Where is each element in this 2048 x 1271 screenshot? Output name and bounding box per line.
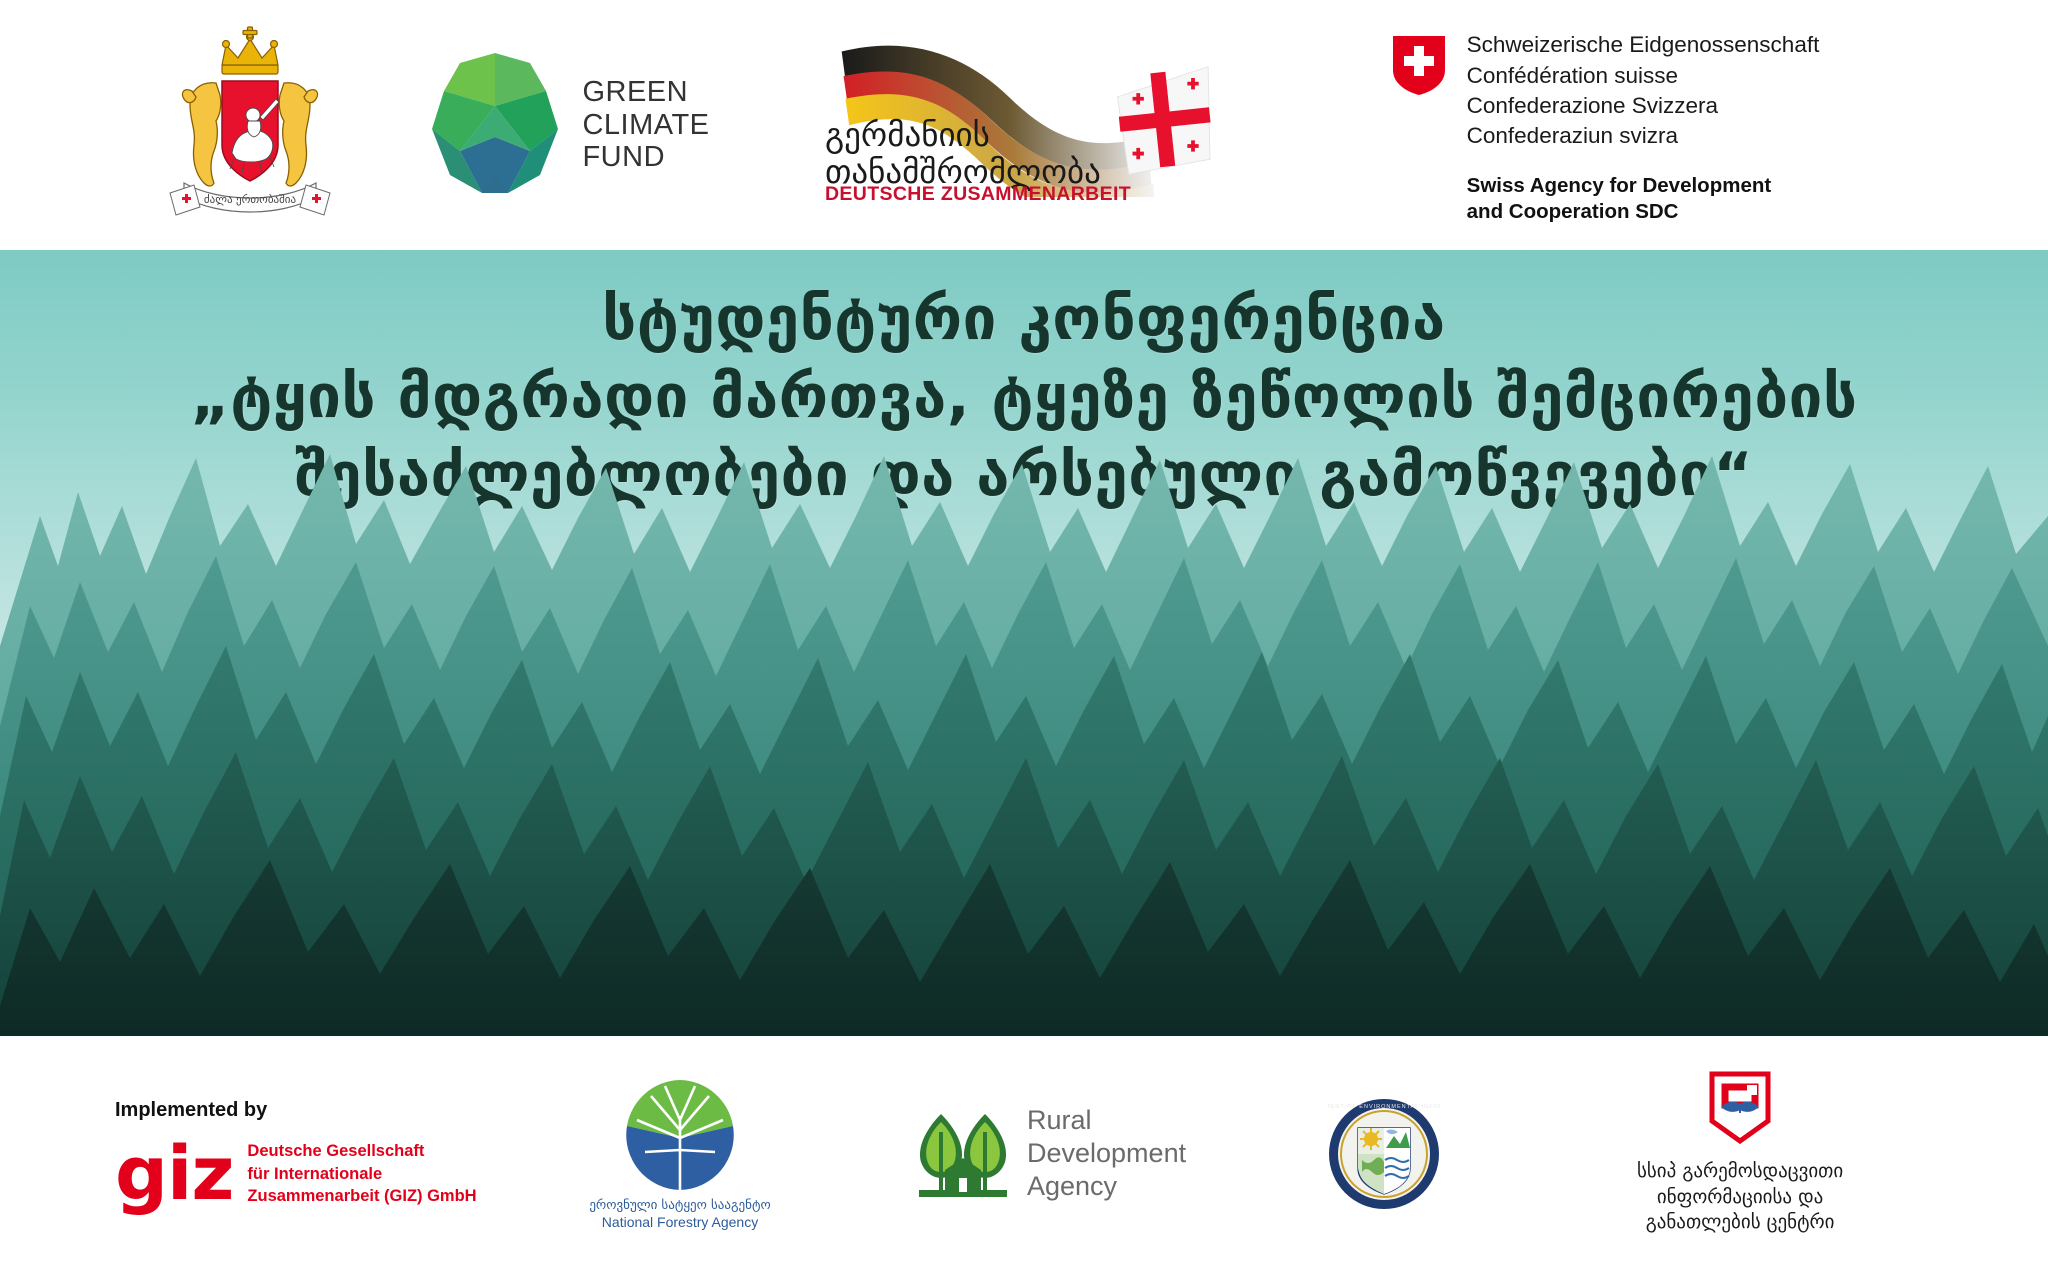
- rda-trees-house-icon: [915, 1108, 1011, 1200]
- logo-georgia-coat-of-arms: ძალა ერთობაშია: [95, 0, 405, 250]
- logo-german-cooperation: გერმანიის თანამშრომლობა DEUTSCHE ZUSAMME…: [795, 0, 1255, 250]
- swiss-cross-shield-icon: [1391, 34, 1447, 96]
- sdc-agency-name: Swiss Agency for Development and Coopera…: [1467, 173, 1820, 225]
- environmental-department-seal-icon: DEPARTMENT OF ENVIRONMENTAL INFORMATION: [1328, 1098, 1440, 1210]
- eiec-name: სსიპ გარემოსდაცვითი ინფორმაციისა და განა…: [1570, 1159, 1910, 1235]
- rda-line-2: Development: [1027, 1137, 1186, 1170]
- gcf-line-3: FUND: [582, 141, 709, 173]
- forestry-tree-circle-icon: [621, 1076, 739, 1194]
- logo-national-forestry-agency: ეროვნული სატყეო სააგენტო National Forest…: [565, 1076, 795, 1232]
- logo-department-environmental-information: DEPARTMENT OF ENVIRONMENTAL INFORMATION: [1304, 1098, 1464, 1210]
- sdc-line-it: Confederazione Svizzera: [1467, 91, 1820, 121]
- logo-environmental-info-education-centre: სსიპ გარემოსდაცვითი ინფორმაციისა და განა…: [1570, 1071, 1910, 1235]
- rda-line-1: Rural: [1027, 1104, 1186, 1137]
- emblem-motto: ძალა ერთობაშია: [204, 193, 297, 206]
- hero-section: სტუდენტური კონფერენცია „ტყის მდგრადი მარ…: [0, 250, 2048, 1036]
- giz-full-name: Deutsche Gesellschaft für Internationale…: [247, 1140, 476, 1207]
- eiec-line-3: განათლების ცენტრი: [1570, 1210, 1910, 1235]
- partner-logo-bar-bottom: Implemented by giz Deutsche Gesellschaft…: [0, 1036, 2048, 1271]
- logo-swiss-sdc: Schweizerische Eidgenossenschaft Confédé…: [1255, 0, 1955, 250]
- donor-logo-bar-top: ძალა ერთობაშია: [0, 0, 2048, 250]
- logo-rural-development-agency: Rural Development Agency: [915, 1104, 1186, 1203]
- nfa-name-ka: ეროვნული სატყეო სააგენტო: [565, 1198, 795, 1214]
- implemented-by-label: Implemented by: [115, 1099, 535, 1122]
- eiec-line-2: ინფორმაციისა და: [1570, 1185, 1910, 1210]
- sdc-agency-line-2: and Cooperation SDC: [1467, 199, 1820, 225]
- sdc-line-rm: Confederaziun svizra: [1467, 121, 1820, 151]
- german-cooperation-ka-line-1: გერმანიის: [825, 117, 1135, 154]
- gcf-wordmark: GREEN CLIMATE FUND: [582, 76, 709, 173]
- forest-silhouette-illustration: [0, 396, 2048, 1036]
- giz-name-line-3: Zusammenarbeit (GIZ) GmbH: [247, 1185, 476, 1207]
- title-line-1: სტუდენტური კონფერენცია: [0, 280, 2048, 358]
- eiec-line-1: სსიპ გარემოსდაცვითი: [1570, 1159, 1910, 1184]
- gcf-gem-icon: [430, 51, 560, 199]
- rda-wordmark: Rural Development Agency: [1027, 1104, 1186, 1203]
- sdc-line-fr: Confédération suisse: [1467, 61, 1820, 91]
- german-cooperation-ka: გერმანიის თანამშრომლობა: [825, 117, 1135, 191]
- seal-ring-text: DEPARTMENT OF ENVIRONMENTAL INFORMATION: [1328, 1104, 1440, 1110]
- eiec-shield-book-icon: [1709, 1071, 1771, 1145]
- giz-name-line-1: Deutsche Gesellschaft: [247, 1140, 476, 1162]
- giz-name-line-2: für Internationale: [247, 1163, 476, 1185]
- sdc-agency-line-1: Swiss Agency for Development: [1467, 173, 1820, 199]
- georgia-emblem-icon: ძალა ერთობაშია: [160, 25, 340, 225]
- gcf-line-1: GREEN: [582, 76, 709, 108]
- gcf-line-2: CLIMATE: [582, 109, 709, 141]
- rda-line-3: Agency: [1027, 1170, 1186, 1203]
- swiss-sdc-text: Schweizerische Eidgenossenschaft Confédé…: [1467, 30, 1820, 225]
- logo-green-climate-fund: GREEN CLIMATE FUND: [405, 0, 735, 250]
- giz-wordmark: giz: [115, 1144, 233, 1205]
- conference-banner: ძალა ერთობაშია: [0, 0, 2048, 1271]
- logo-giz: Implemented by giz Deutsche Gesellschaft…: [0, 1099, 535, 1207]
- nfa-name-en: National Forestry Agency: [565, 1214, 795, 1232]
- sdc-line-de: Schweizerische Eidgenossenschaft: [1467, 30, 1820, 60]
- german-cooperation-de-line: DEUTSCHE ZUSAMMENARBEIT: [825, 183, 1155, 206]
